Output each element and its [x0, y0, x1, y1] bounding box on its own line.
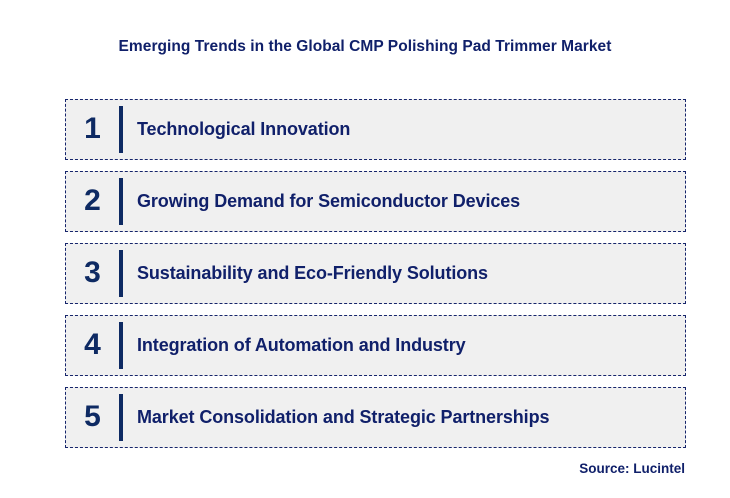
emerging-trends-infographic: Emerging Trends in the Global CMP Polish… — [0, 0, 730, 498]
source-label: Source: Lucintel — [579, 461, 685, 476]
trend-label: Sustainability and Eco-Friendly Solution… — [123, 263, 685, 284]
trend-number: 1 — [66, 114, 119, 146]
trend-label: Market Consolidation and Strategic Partn… — [123, 407, 685, 428]
trend-number: 3 — [66, 258, 119, 290]
list-item[interactable]: 1 Technological Innovation — [65, 99, 686, 160]
trend-label: Growing Demand for Semiconductor Devices — [123, 191, 685, 212]
trend-label: Technological Innovation — [123, 119, 685, 140]
list-item[interactable]: 4 Integration of Automation and Industry — [65, 315, 686, 376]
trend-label: Integration of Automation and Industry — [123, 335, 685, 356]
trend-number: 2 — [66, 186, 119, 218]
list-item[interactable]: 3 Sustainability and Eco-Friendly Soluti… — [65, 243, 686, 304]
list-item[interactable]: 2 Growing Demand for Semiconductor Devic… — [65, 171, 686, 232]
list-item[interactable]: 5 Market Consolidation and Strategic Par… — [65, 387, 686, 448]
page-title: Emerging Trends in the Global CMP Polish… — [0, 38, 730, 56]
trend-list: 1 Technological Innovation 2 Growing Dem… — [65, 99, 686, 448]
trend-number: 4 — [66, 330, 119, 362]
trend-number: 5 — [66, 402, 119, 434]
